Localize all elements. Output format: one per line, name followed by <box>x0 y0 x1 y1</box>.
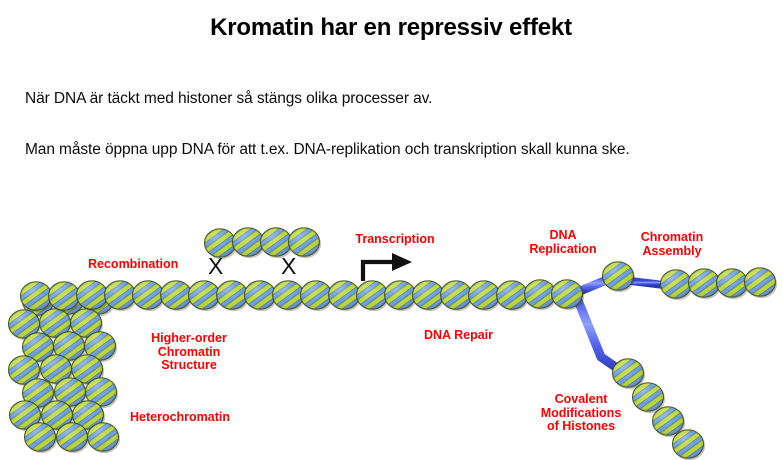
label-dna-replication: DNA Replication <box>518 229 608 256</box>
label-higher-order-chromatin-structure: Higher-order Chromatin Structure <box>130 332 248 373</box>
crossover-mark-2: X <box>281 255 296 278</box>
transcription-arrow-icon <box>363 253 412 281</box>
label-heterochromatin: Heterochromatin <box>130 411 270 425</box>
label-chromatin-assembly: Chromatin Assembly <box>620 231 724 258</box>
body-paragraph-2: Man måste öppna upp DNA för att t.ex. DN… <box>25 141 630 159</box>
label-dna-repair: DNA Repair <box>424 329 524 343</box>
chromatin-assembly-fiber <box>603 262 778 300</box>
linker-assembly-gap <box>631 281 664 285</box>
page-title: Kromatin har en repressiv effekt <box>0 14 782 42</box>
chromatin-diagram: Recombination Transcription DNA Replicat… <box>0 205 782 460</box>
body-paragraph-1: När DNA är täckt med histoner så stängs … <box>25 90 432 108</box>
label-transcription: Transcription <box>340 233 450 247</box>
label-recombination: Recombination <box>88 258 210 272</box>
label-covalent-modifications-of-histones: Covalent Modifications of Histones <box>522 393 640 434</box>
crossover-mark-1: X <box>208 255 223 278</box>
